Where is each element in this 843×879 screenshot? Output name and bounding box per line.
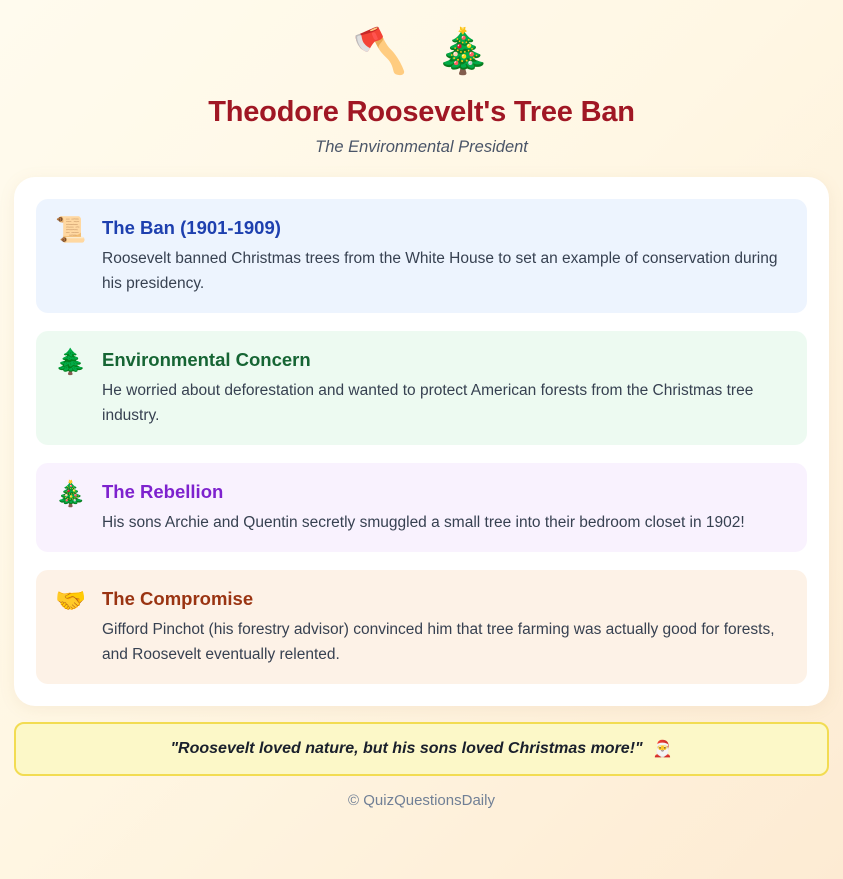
fact-body: The Compromise Gifford Pinchot (his fore… xyxy=(102,586,789,667)
handshake-icon: 🤝 xyxy=(54,586,88,616)
christmas-tree-icon: 🎄 xyxy=(54,479,88,509)
header-emoji-row: 🪓🎄 xyxy=(14,16,829,94)
evergreen-tree-icon: 🌲 xyxy=(54,347,88,377)
christmas-tree-icon: 🎄 xyxy=(436,27,519,76)
fact-title: Environmental Concern xyxy=(102,348,789,372)
fact-card-the-compromise: 🤝 The Compromise Gifford Pinchot (his fo… xyxy=(36,570,807,684)
fact-text: His sons Archie and Quentin secretly smu… xyxy=(102,510,789,535)
axe-icon: 🪓 xyxy=(353,27,436,76)
facts-panel: 📜 The Ban (1901-1909) Roosevelt banned C… xyxy=(14,177,829,706)
santa-claus-icon: 🎅 xyxy=(653,739,673,759)
scroll-icon: 📜 xyxy=(54,215,88,245)
fact-body: The Ban (1901-1909) Roosevelt banned Chr… xyxy=(102,215,789,296)
fact-card-environmental-concern: 🌲 Environmental Concern He worried about… xyxy=(36,331,807,445)
page-title: Theodore Roosevelt's Tree Ban xyxy=(14,94,829,130)
page-root: 🪓🎄 Theodore Roosevelt's Tree Ban The Env… xyxy=(0,0,843,879)
fact-card-the-rebellion: 🎄 The Rebellion His sons Archie and Quen… xyxy=(36,463,807,552)
page-subtitle: The Environmental President xyxy=(14,132,829,162)
fact-body: The Rebellion His sons Archie and Quenti… xyxy=(102,479,789,535)
fact-text: He worried about deforestation and wante… xyxy=(102,378,789,428)
footer-copyright: © QuizQuestionsDaily xyxy=(14,791,829,811)
fact-title: The Ban (1901-1909) xyxy=(102,216,789,240)
fact-card-the-ban: 📜 The Ban (1901-1909) Roosevelt banned C… xyxy=(36,199,807,313)
quote-banner: "Roosevelt loved nature, but his sons lo… xyxy=(14,722,829,776)
page-header: 🪓🎄 Theodore Roosevelt's Tree Ban The Env… xyxy=(14,12,829,162)
fact-body: Environmental Concern He worried about d… xyxy=(102,347,789,428)
fact-text: Gifford Pinchot (his forestry advisor) c… xyxy=(102,617,789,667)
fact-title: The Compromise xyxy=(102,587,789,611)
fact-title: The Rebellion xyxy=(102,480,789,504)
fact-text: Roosevelt banned Christmas trees from th… xyxy=(102,246,789,296)
quote-text: "Roosevelt loved nature, but his sons lo… xyxy=(170,740,642,758)
